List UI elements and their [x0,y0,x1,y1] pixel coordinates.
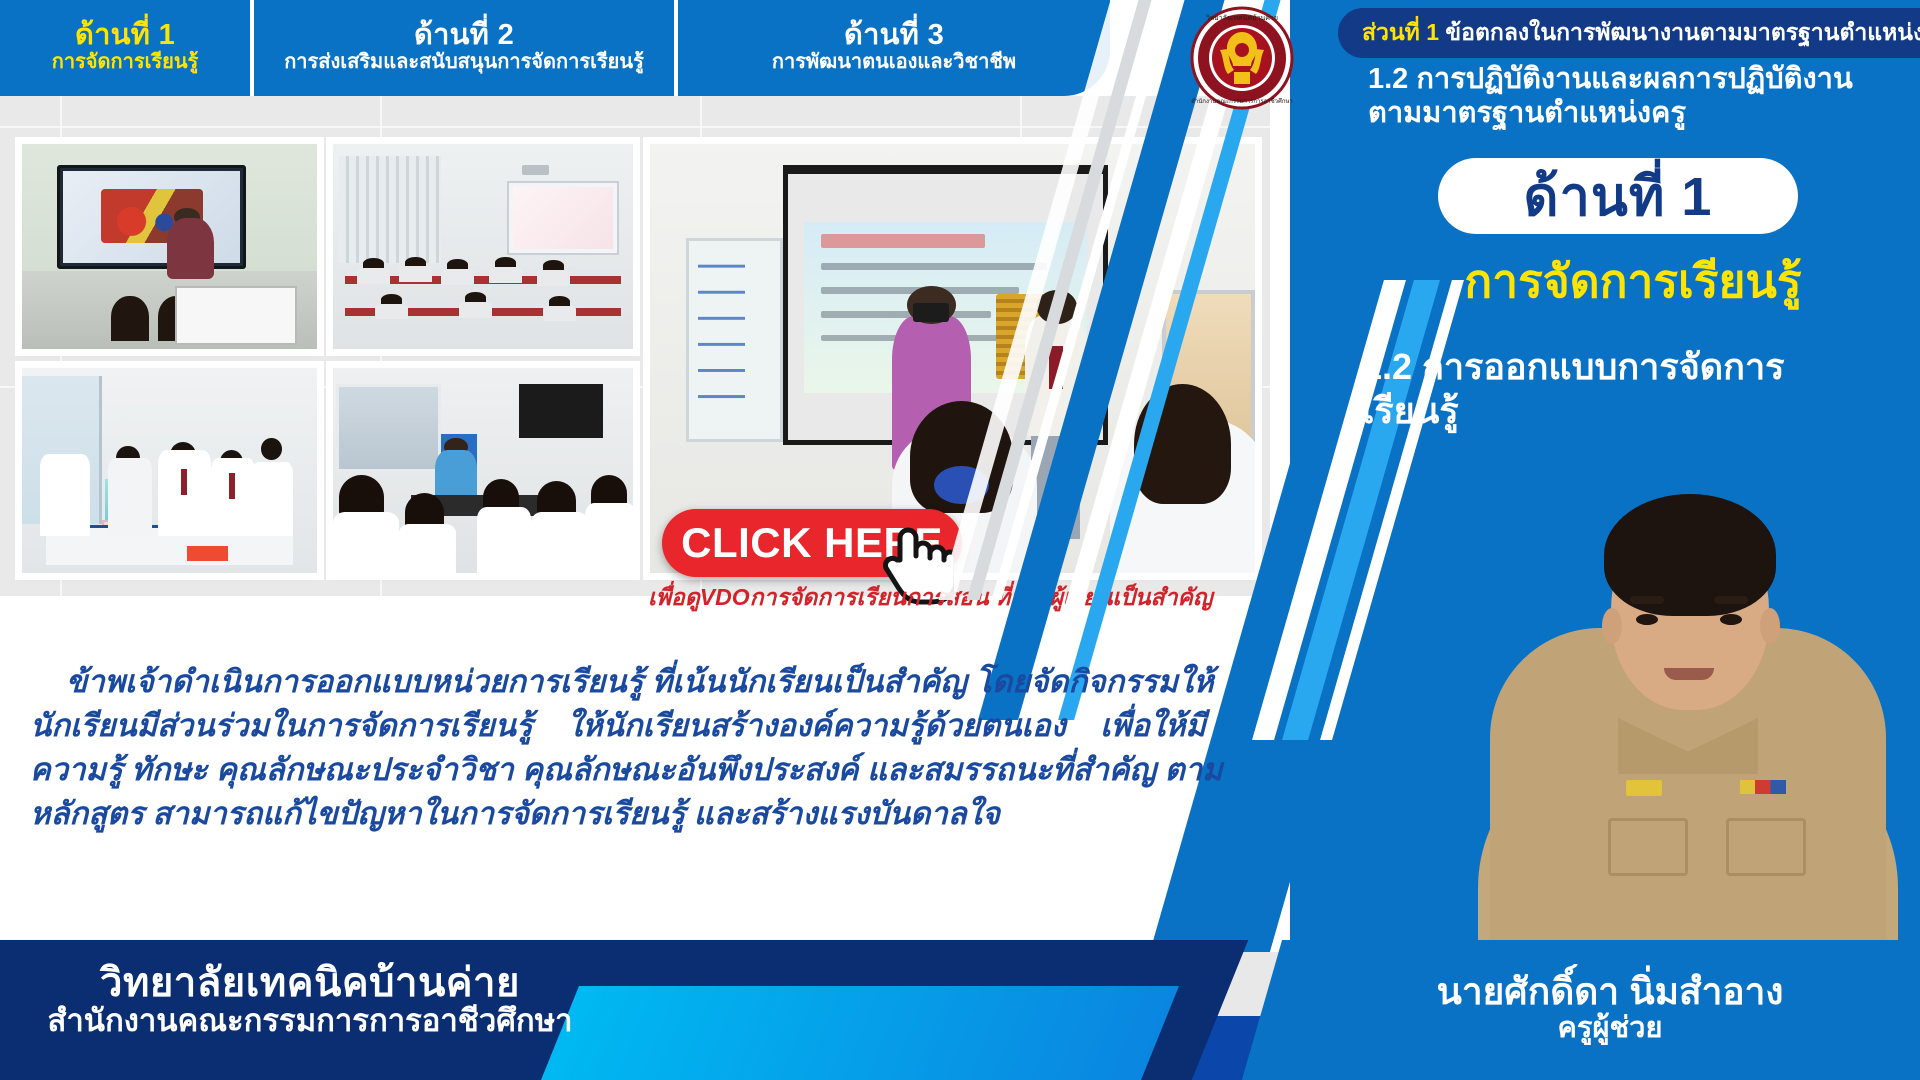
tab-dan-3-subtitle: การพัฒนาตนเองและวิชาชีพ [772,51,1016,73]
tab-dan-2-title: ด้านที่ 2 [414,19,514,51]
right-panel-title: การจัดการเรียนรู้ [1346,245,1920,318]
photo-group-activity [22,368,317,573]
dan-badge-label: ด้านที่ 1 [1524,153,1713,239]
tab-dan-1-subtitle: การจัดการเรียนรู้ [52,51,199,73]
header-band: ส่วนที่ 1 ข้อตกลงในการพัฒนางานตามมาตรฐาน… [1338,8,1920,58]
header-band-highlight: ส่วนที่ 1 [1362,19,1439,45]
tab-dan-3[interactable]: ด้านที่ 3 การพัฒนาตนเองและวิชาชีพ [678,0,1110,96]
header-subtitle-line1: 1.2 การปฏิบัติงานและผลการปฏิบัติงาน [1368,62,1920,96]
tab-dan-2-subtitle: การส่งเสริมและสนับสนุนการจัดการเรียนรู้ [284,51,644,73]
header-band-text: ส่วนที่ 1 ข้อตกลงในการพัฒนางานตามมาตรฐาน… [1362,15,1920,51]
tab-dan-2[interactable]: ด้านที่ 2 การส่งเสริมและสนับสนุนการจัดกา… [254,0,674,96]
photo-lecture-room [333,144,633,349]
photo-cad-classroom [22,144,317,349]
svg-text:วิทยาลัยเทคนิคบ้านค่าย: วิทยาลัยเทคนิคบ้านค่าย [1206,14,1278,22]
header-subtitle-line2: ตามมาตรฐานตำแหน่งครู [1368,96,1920,130]
section-tabs: ด้านที่ 1 การจัดการเรียนรู้ ด้านที่ 2 กา… [0,0,1110,96]
footer-person-block: นายศักดิ์ดา นิ่มสำอาง ครูผู้ช่วย [1330,972,1890,1045]
footer-institution-block: วิทยาลัยเทคนิคบ้านค่าย สำนักงานคณะกรรมกา… [0,962,620,1038]
college-emblem: วิทยาลัยเทคนิคบ้านค่าย สำนักงานคณะกรรมกา… [1190,6,1294,110]
right-panel-subsection-line2: เรียนรู้ [1362,389,1892,433]
footer-institution: วิทยาลัยเทคนิคบ้านค่าย [0,962,620,1004]
body-line-2: นักเรียนมีส่วนร่วมในการจัดการเรียนรู้ ให… [30,704,1330,748]
tab-dan-3-title: ด้านที่ 3 [844,19,944,51]
footer-cyan-band [541,986,1179,1080]
teacher-portrait [1478,468,1898,988]
right-panel-subsection: 1.2 การออกแบบการจัดการ เรียนรู้ [1362,345,1892,433]
header-band-rest: ข้อตกลงในการพัฒนางานตามมาตรฐานตำแหน่ง [1439,19,1920,45]
tab-dan-1[interactable]: ด้านที่ 1 การจัดการเรียนรู้ [0,0,250,96]
header-subtitle: 1.2 การปฏิบัติงานและผลการปฏิบัติงาน ตามม… [1368,62,1920,130]
body-line-4: หลักสูตร สามารถแก้ไขปัญหาในการจัดการเรีย… [30,792,1330,836]
svg-text:สำนักงานคณะกรรมการการอาชีวศึกษ: สำนักงานคณะกรรมการการอาชีวศึกษา [1191,97,1293,105]
body-line-1: ข้าพเจ้าดำเนินการออกแบบหน่วยการเรียนรู้ … [30,660,1330,704]
footer-person-role: ครูผู้ช่วย [1330,1013,1890,1045]
photo-lab-demonstration [333,368,633,573]
tab-dan-1-title: ด้านที่ 1 [75,19,175,51]
footer-agency: สำนักงานคณะกรรมการการอาชีวศึกษา [0,1004,620,1038]
right-panel-subsection-line1: 1.2 การออกแบบการจัดการ [1362,345,1892,389]
body-line-3: ความรู้ ทักษะ คุณลักษณะประจำวิชา คุณลักษ… [30,748,1330,792]
slide-canvas: ด้านที่ 1 การจัดการเรียนรู้ ด้านที่ 2 กา… [0,0,1920,1080]
dan-badge: ด้านที่ 1 [1438,158,1798,234]
footer-person-name: นายศักดิ์ดา นิ่มสำอาง [1330,972,1890,1013]
body-paragraph: ข้าพเจ้าดำเนินการออกแบบหน่วยการเรียนรู้ … [30,660,1330,836]
